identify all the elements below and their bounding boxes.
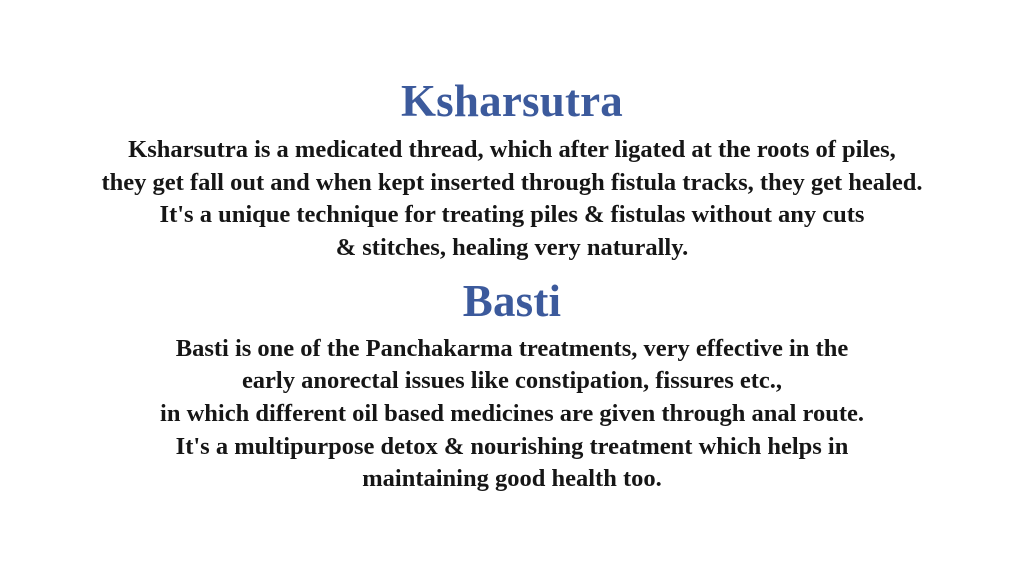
section-heading-basti: Basti [463, 278, 562, 325]
section-ksharsutra: Ksharsutra Ksharsutra is a medicated thr… [12, 78, 1012, 265]
body-line: It's a multipurpose detox & nourishing t… [160, 431, 864, 464]
body-line: Basti is one of the Panchakarma treatmen… [160, 333, 864, 366]
section-basti: Basti Basti is one of the Panchakarma tr… [12, 278, 1012, 496]
body-line: Ksharsutra is a medicated thread, which … [102, 134, 923, 167]
body-line: in which different oil based medicines a… [160, 398, 864, 431]
body-line: & stitches, healing very naturally. [102, 232, 923, 265]
body-line: It's a unique technique for treating pil… [102, 199, 923, 232]
section-body-ksharsutra: Ksharsutra is a medicated thread, which … [102, 134, 923, 264]
body-line: maintaining good health too. [160, 463, 864, 496]
document-page: Ksharsutra Ksharsutra is a medicated thr… [0, 0, 1024, 585]
body-line: early anorectal issues like constipation… [160, 365, 864, 398]
section-body-basti: Basti is one of the Panchakarma treatmen… [160, 333, 864, 496]
section-heading-ksharsutra: Ksharsutra [401, 78, 623, 125]
body-line: they get fall out and when kept inserted… [102, 167, 923, 200]
